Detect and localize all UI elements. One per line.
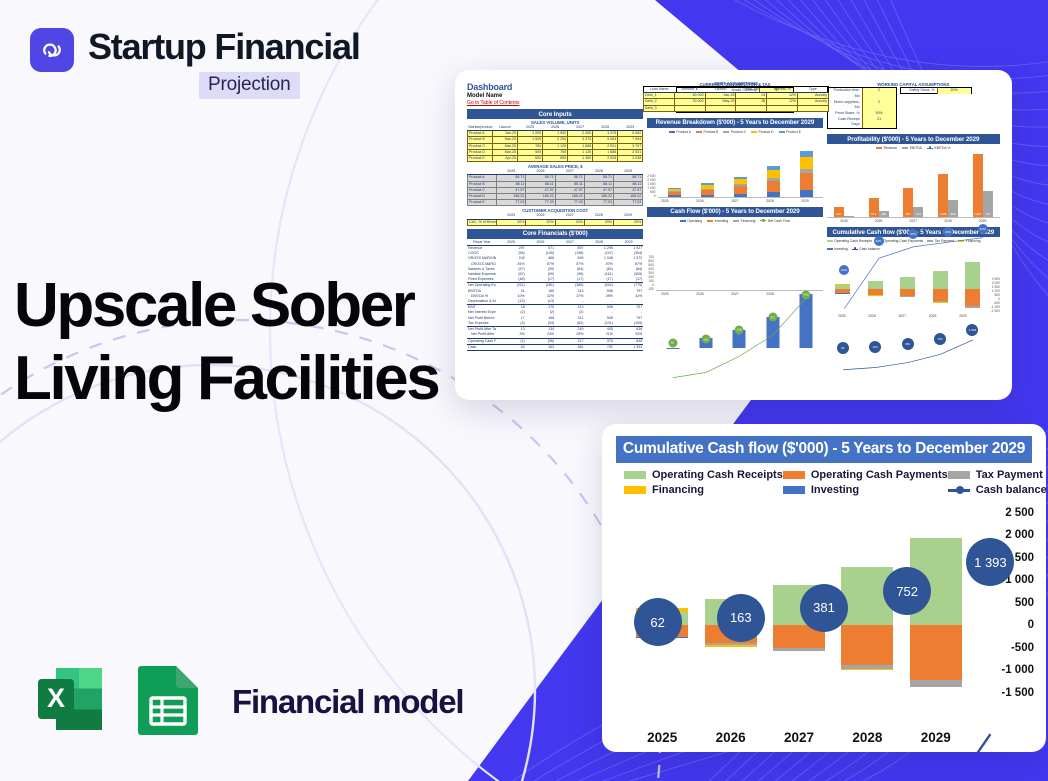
profitability-title: Profitability ($'000) - 5 Years to Decem… (827, 134, 1000, 144)
bar: 313 (913, 207, 923, 217)
core-inputs-band: Core Inputs (467, 109, 643, 119)
legend-item: Net Cash Flow (760, 219, 790, 223)
legend-swatch (876, 147, 882, 149)
cash-flow-title: Cash Flow ($'000) - 5 Years to December … (647, 207, 822, 217)
legend-label: Tax Payment (976, 469, 1043, 481)
legend-label: Investing (715, 219, 729, 223)
legend-label: Product C (731, 130, 746, 134)
legend-swatch (707, 220, 713, 222)
data-point: 1 393 (966, 538, 1014, 586)
data-point: 218 (735, 325, 744, 334)
legend-swatch (948, 489, 970, 492)
legend-label: Revenue (884, 146, 898, 150)
svg-text:X: X (47, 683, 65, 713)
brand-title: Startup Financial (88, 28, 360, 66)
bar: 297 (834, 207, 844, 217)
assumption-label: Safety Stock, % (901, 88, 937, 94)
legend-label: Cash balance (976, 484, 1046, 496)
data-point: 163 (869, 341, 881, 353)
legend-swatch (751, 131, 757, 133)
chart-plot-area: 621633817521 393 2 5002 0001 5001 000500… (616, 508, 1032, 704)
core-financials-body: Revenue2975718971 2951 927COGS(55)(105)(… (467, 246, 643, 351)
brand-header: Startup Financial Projection (30, 28, 360, 99)
chart-legend: Operating Cash ReceiptsOperating Cash Pa… (624, 469, 1032, 496)
bar-label: 571 (871, 212, 876, 216)
core-financials-band: Core Financials ($'000) (467, 229, 643, 239)
working-capital-box: Production time, Mo2Direct suppliers, Mo… (827, 87, 897, 129)
legend-swatch (624, 486, 646, 494)
legend-item: Cash balance (948, 484, 1046, 496)
legend-swatch (927, 148, 933, 149)
legend-label: EBITDA % (934, 146, 950, 150)
legend-item: Financing (733, 219, 755, 223)
data-point: 62 (634, 598, 682, 646)
microsoft-excel-icon: X (32, 660, 110, 743)
bar-segment (701, 195, 714, 197)
legend-item: Product E (779, 130, 801, 134)
legend-swatch (760, 220, 766, 221)
assumption-label: Cash Receipt Days (828, 117, 862, 128)
data-point: 371 (768, 313, 777, 322)
legend-swatch (779, 131, 785, 133)
data-point: 62 (668, 338, 677, 347)
legend-swatch (624, 471, 646, 479)
data-point: 1 393 (966, 324, 978, 336)
legend-label: Operating Cash Receipts (652, 469, 783, 481)
bar-label: 1 927 (974, 212, 982, 216)
debt-body: Debt_160 000Jan-252412%AnnuityDebt_230 0… (644, 93, 829, 112)
data-point: 381 (800, 584, 848, 632)
cash-flow-chart: OperatingInvestingFinancingNet Cash Flow… (647, 218, 822, 296)
legend-item: Product D (751, 130, 774, 134)
brand-logo-icon (30, 28, 74, 72)
data-point: 37% (908, 229, 918, 239)
legend-item: Revenue (876, 146, 897, 150)
assumption-value[interactable]: 2 (862, 88, 896, 99)
legend-label: Product A (676, 130, 691, 134)
bar-label: 506 (950, 212, 955, 216)
bar-label: 1 295 (939, 212, 947, 216)
legend-item: Operating Cash Payments (783, 469, 948, 481)
bar: 1 927 (973, 154, 983, 218)
chart-bars (658, 151, 823, 198)
google-sheets-icon (132, 660, 204, 743)
bar-segment (800, 157, 813, 169)
bar-segment (767, 192, 780, 197)
bar-stack (701, 183, 714, 197)
legend-swatch (948, 471, 970, 479)
data-point: 381 (902, 338, 914, 350)
cumulative-cashflow-card[interactable]: Cumulative Cash flow ($'000) - 5 Years t… (602, 424, 1046, 752)
bar-segment (734, 194, 747, 197)
table-of-contents-link[interactable]: Go to Table of Contents (467, 100, 643, 106)
bar-stack (800, 151, 813, 197)
table-row: Cash621633817521 393 (467, 344, 643, 350)
legend-label: Product B (704, 130, 719, 134)
chart-legend: OperatingInvestingFinancingNet Cash Flow (647, 219, 822, 223)
core-financials-table: Fiscal Year 2025 2026 2027 2028 2029 Rev… (467, 240, 643, 351)
x-axis-labels: 20252026202720282029 (647, 199, 822, 203)
bar-segment (767, 181, 780, 192)
bar-segment (668, 195, 681, 196)
bar-label: 31 (847, 212, 850, 216)
dashboard-right-column: WORKING CAPITAL ASSUMPTIONS Production t… (827, 82, 1000, 388)
legend-label: Investing (811, 484, 859, 496)
data-point: 39% (943, 227, 953, 237)
revenue-breakdown-title: Revenue Breakdown ($'000) - 5 Years to D… (647, 118, 822, 128)
legend-swatch (733, 220, 739, 222)
legend-swatch (783, 486, 805, 494)
legend-label: Product D (759, 130, 774, 134)
bar: 571 (869, 198, 879, 217)
average-price-body: Product A58.7158.7158.7158.7158.71Produc… (468, 175, 643, 206)
format-badges: X Financial model (32, 660, 463, 743)
data-point: 163 (717, 594, 765, 642)
chart-bars: 62101218371640 (656, 290, 823, 291)
sales-volume-body: Product AJan-251 0001 5002 2503 3755 062… (468, 131, 643, 162)
legend-item: Product B (696, 130, 718, 134)
legend-item: Tax Payment (948, 469, 1046, 481)
legend-swatch (723, 131, 729, 133)
sales-volume-table: Market/product Launch 2025 2026 2027 202… (467, 125, 643, 162)
bar-segment (734, 186, 747, 193)
bar: 797 (983, 191, 993, 217)
table-row: Product E77.0377.0377.0377.0377.03 (468, 200, 643, 206)
dashboard-middle-column: CURRENCY, DENOMINATOR & TAX Model Curren… (647, 82, 822, 388)
legend-swatch (696, 131, 702, 133)
bar-stack (668, 188, 681, 197)
bar-label: 797 (985, 212, 990, 216)
legend-label: Operating Cash Payments (811, 469, 948, 481)
assumption-label: Direct suppliers, Mo (828, 99, 862, 110)
legend-item: Investing (783, 484, 948, 496)
cac-body: CAC, % of Revenue20%20%20%20%20% (468, 219, 643, 225)
dashboard-left-column: Dashboard Model Name Go to Table of Cont… (467, 82, 643, 388)
bar-label: 313 (916, 212, 921, 216)
legend-item: Operating (680, 219, 702, 223)
profitability-chart: RevenueEBITDAEBITDA % 2973110%57118532%8… (827, 145, 1000, 223)
average-price-table: 2025 2026 2027 2028 2029 Product A58.715… (467, 169, 643, 206)
revenue-breakdown-chart: Product AProduct BProduct CProduct DProd… (647, 129, 822, 203)
debt-table: Loan Name Amount, $ Launch Term, Mo Inte… (643, 86, 829, 112)
chart-bars: 2973110%57118532%89731337%1 29550639%1 9… (827, 217, 1000, 218)
legend-item: Product C (723, 130, 746, 134)
page-title: Upscale Sober Living Facilities (14, 270, 484, 415)
data-point: 752 (934, 333, 946, 345)
assumption-label: Production time, Mo (828, 88, 862, 99)
assumption-value[interactable]: 2 (862, 99, 896, 110)
cac-table: 2025 2026 2027 2028 2029 CAC, % of Reven… (467, 213, 643, 225)
chart-legend: Product AProduct BProduct CProduct DProd… (647, 130, 822, 134)
legend-swatch (669, 131, 675, 133)
data-point: 41% (978, 224, 988, 234)
bar: 897 (903, 188, 913, 218)
chart-title: Cumulative Cash flow ($'000) - 5 Years t… (616, 436, 1032, 463)
assumption-value[interactable]: 21 (862, 117, 896, 128)
legend-label: Net Cash Flow (768, 219, 790, 223)
bar-segment (767, 170, 780, 178)
bar-segment (800, 190, 813, 197)
debt-assumptions-block: DEBT ASSUMPTIONS Loan Name Amount, $ Lau… (643, 81, 829, 112)
y-axis-labels: 7006005004003002001000-100 (647, 255, 656, 291)
bar-label: 297 (836, 212, 841, 216)
bar-stack (767, 166, 780, 197)
table-row: Debt_3 (644, 105, 829, 111)
legend-item: EBITDA (902, 146, 922, 150)
bar-label: 185 (881, 212, 886, 216)
data-point: 10% (839, 265, 849, 275)
data-point: 101 (701, 335, 710, 344)
table-row: Product EApr-256009001 3502 0253 038 (468, 156, 643, 162)
format-label: Financial model (232, 683, 463, 721)
bar-label: 897 (906, 212, 911, 216)
legend-item: Operating Cash Receipts (624, 469, 783, 481)
bar: 1 295 (938, 174, 948, 217)
data-point: 32% (874, 236, 884, 246)
y-axis-labels: 2 5002 0001 5001 0005000 (647, 174, 657, 198)
data-point: 752 (883, 567, 931, 615)
dashboard-screenshot-card[interactable]: Dashboard Model Name Go to Table of Cont… (455, 70, 1012, 400)
dashboard-heading: Dashboard (467, 82, 643, 92)
legend-swatch (902, 147, 908, 149)
legend-swatch (783, 471, 805, 479)
chart-legend: RevenueEBITDAEBITDA % (827, 146, 1000, 150)
assumption-value[interactable]: 20% (937, 88, 971, 94)
legend-item: Investing (707, 219, 728, 223)
safety-stock-box: Safety Stock, %20% (900, 87, 972, 94)
bar: 506 (948, 200, 958, 217)
legend-label: Operating (687, 219, 702, 223)
legend-label: Financing (741, 219, 756, 223)
legend-item: Financing (624, 484, 783, 496)
legend-label: EBITDA (910, 146, 922, 150)
legend-swatch (680, 220, 686, 222)
data-point: 62 (837, 342, 849, 354)
legend-label: Product E (786, 130, 801, 134)
table-row: CAC, % of Revenue20%20%20%20%20% (468, 219, 643, 225)
model-name-label: Model Name (467, 93, 643, 99)
bar-segment (800, 173, 813, 190)
data-point: 640 (801, 290, 810, 299)
bar-stack (734, 177, 747, 197)
legend-item: EBITDA % (927, 146, 951, 150)
legend-label: Financing (652, 484, 704, 496)
brand-subtitle: Projection (199, 72, 300, 99)
legend-item: Product A (669, 130, 691, 134)
